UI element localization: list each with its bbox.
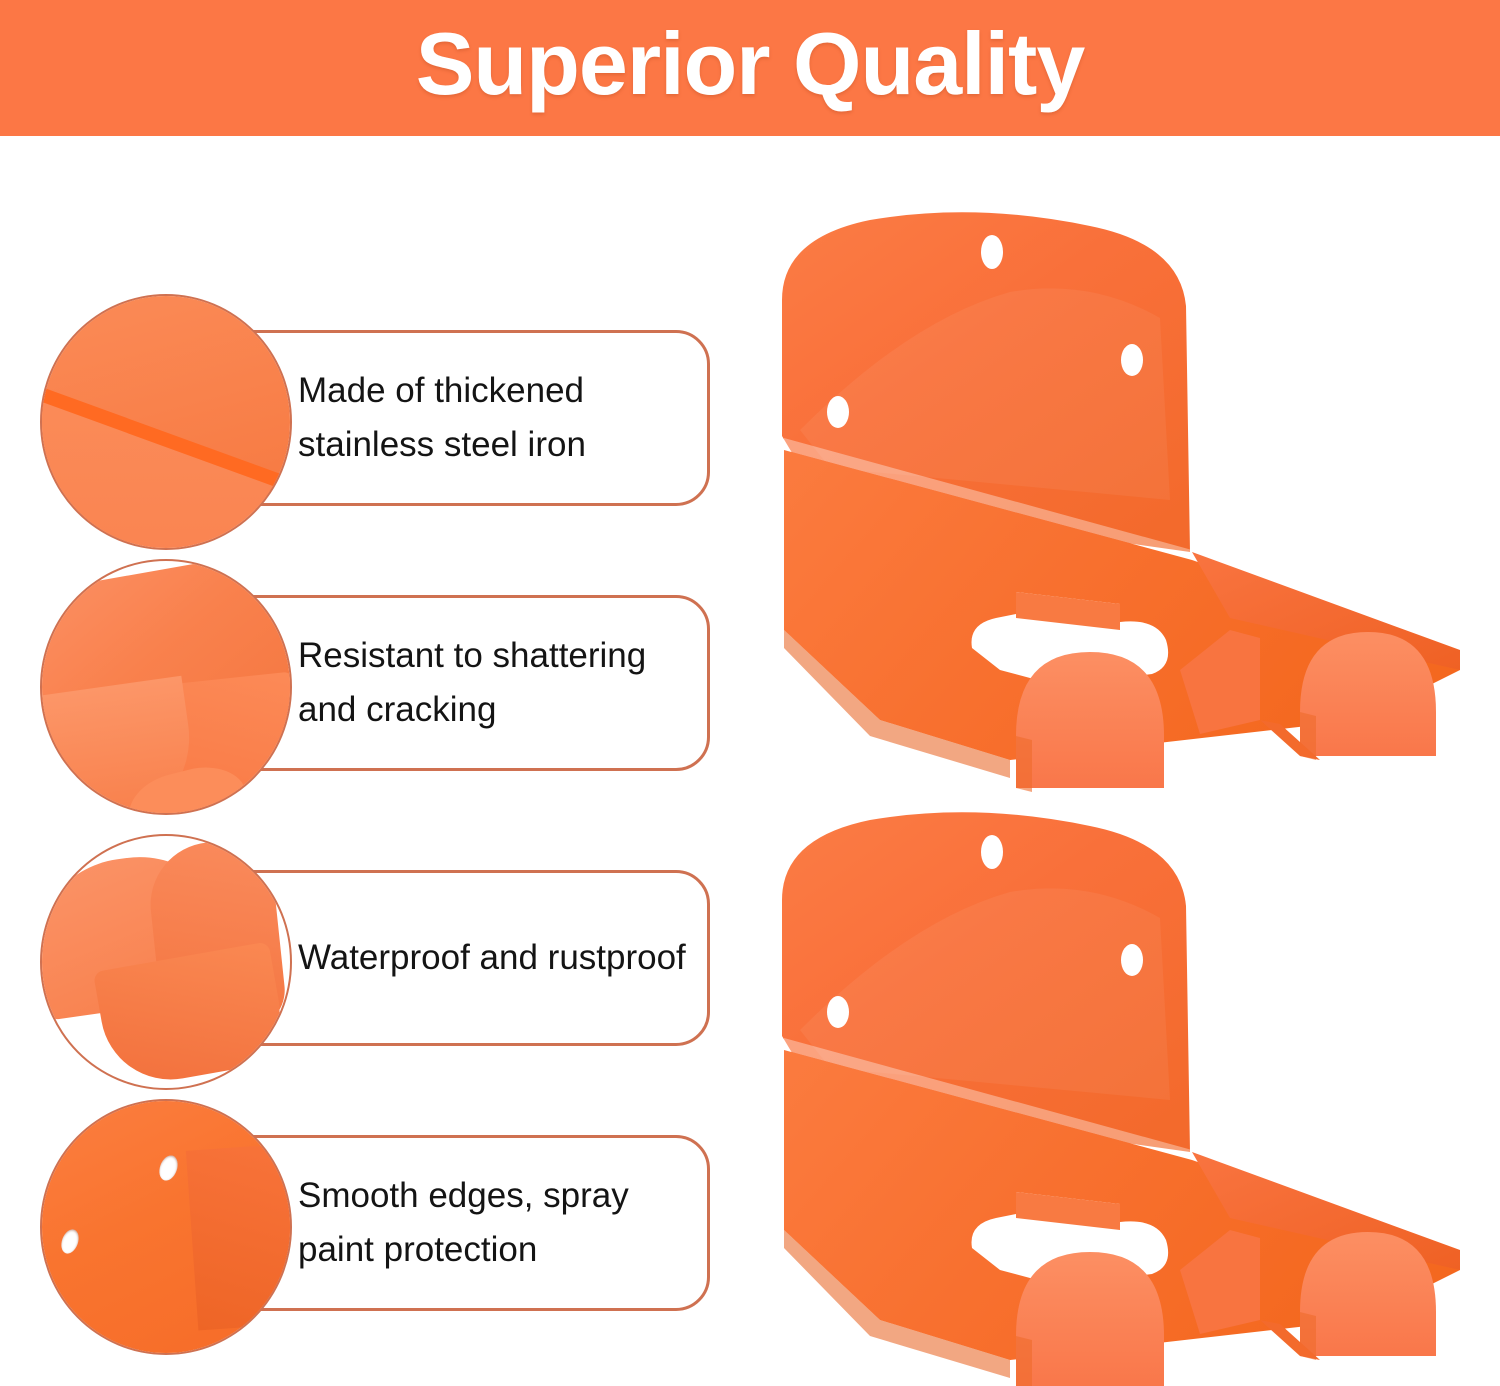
wall-mount-bracket-illustration [760, 200, 1500, 810]
product-infographic-page: Superior Quality Made of thickened stain… [0, 0, 1500, 1386]
mounting-hole-icon [1121, 944, 1143, 976]
hook-tab-left-edge [1016, 1336, 1032, 1386]
hook-tab-left-edge [1016, 736, 1032, 792]
hook-tab-right [1300, 1232, 1436, 1356]
feature-list: Made of thickened stainless steel iron R… [0, 136, 760, 1386]
feature-item-weatherproof: Waterproof and rustproof [0, 826, 760, 1096]
closeup-image-hook-body [42, 561, 290, 813]
mounting-hole-icon [827, 396, 849, 428]
closeup-bubble-weatherproof [40, 834, 292, 1090]
product-photo-column [760, 140, 1500, 1386]
wall-mount-bracket-illustration [760, 800, 1500, 1386]
closeup-image-rounded-dome-tab [42, 836, 290, 1088]
header-banner: Superior Quality [0, 0, 1500, 136]
hook-tab-left [1016, 652, 1164, 788]
mounting-hole-icon [827, 996, 849, 1028]
closeup-image-back-plate-screw-holes [42, 1101, 290, 1353]
feature-item-finish: Smooth edges, spray paint protection [0, 1091, 760, 1361]
mounting-hole-icon [981, 235, 1003, 269]
page-title: Superior Quality [0, 0, 1500, 136]
product-photo-top [760, 200, 1500, 810]
closeup-bubble-material [40, 294, 292, 550]
mounting-hole-icon [981, 835, 1003, 869]
feature-item-material: Made of thickened stainless steel iron [0, 286, 760, 556]
back-plate-side-shape [186, 1144, 292, 1331]
closeup-bubble-durability [40, 559, 292, 815]
hook-tab-right [1300, 632, 1436, 756]
closeup-image-thickened-plate-edge [42, 296, 290, 548]
closeup-bubble-finish [40, 1099, 292, 1355]
product-photo-bottom [760, 800, 1500, 1386]
hook-tab-left [1016, 1252, 1164, 1386]
feature-item-durability: Resistant to shattering and cracking [0, 551, 760, 821]
mounting-hole-icon [1121, 344, 1143, 376]
